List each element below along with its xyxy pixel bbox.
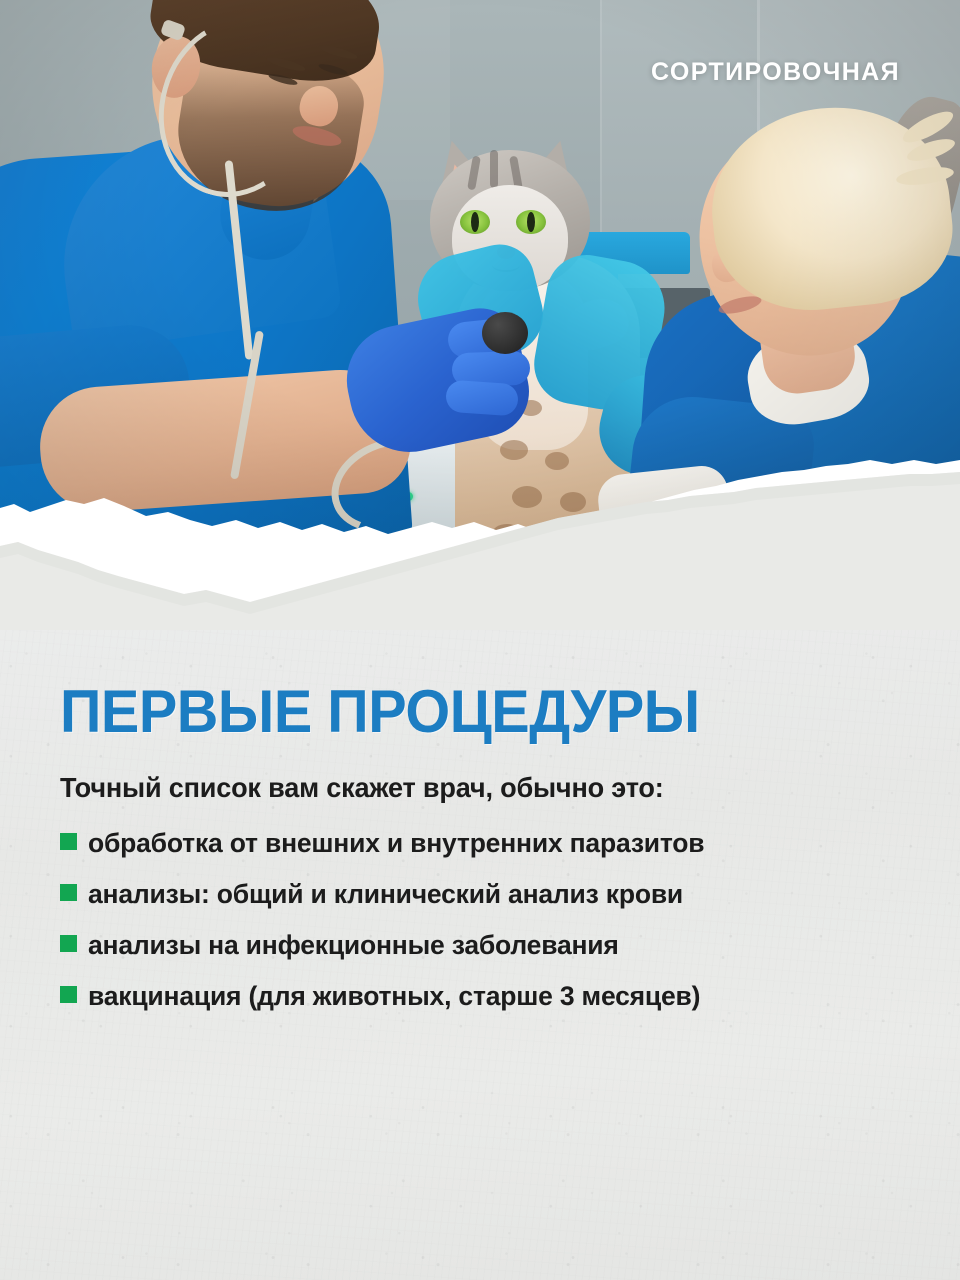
poster: СОРТИРОВОЧНАЯ ПЕРВЫЕ ПРОЦЕДУРЫ Точный сп… bbox=[0, 0, 960, 1280]
content-area: ПЕРВЫЕ ПРОЦЕДУРЫ Точный список вам скаже… bbox=[0, 682, 960, 1014]
procedures-list: обработка от внешних и внутренних парази… bbox=[60, 826, 900, 1014]
list-item: анализы на инфекционные заболевания bbox=[60, 928, 890, 963]
square-bullet-icon bbox=[60, 986, 77, 1003]
list-item-label: вакцинация (для животных, старше 3 месяц… bbox=[88, 981, 700, 1011]
channel-label: СОРТИРОВОЧНАЯ bbox=[651, 58, 900, 87]
torn-paper-edge bbox=[0, 430, 960, 630]
square-bullet-icon bbox=[60, 833, 77, 850]
list-item-label: обработка от внешних и внутренних парази… bbox=[88, 828, 704, 858]
list-item: вакцинация (для животных, старше 3 месяц… bbox=[60, 979, 890, 1014]
torn-edge-gray-layer bbox=[0, 430, 960, 630]
list-item: анализы: общий и клинический анализ кров… bbox=[60, 877, 890, 912]
paper-panel: ПЕРВЫЕ ПРОЦЕДУРЫ Точный список вам скаже… bbox=[0, 560, 960, 1280]
square-bullet-icon bbox=[60, 935, 77, 952]
list-item-label: анализы на инфекционные заболевания bbox=[88, 930, 619, 960]
square-bullet-icon bbox=[60, 884, 77, 901]
list-item-label: анализы: общий и клинический анализ кров… bbox=[88, 879, 683, 909]
list-item: обработка от внешних и внутренних парази… bbox=[60, 826, 890, 861]
page-title: ПЕРВЫЕ ПРОЦЕДУРЫ bbox=[60, 682, 866, 742]
page-subtitle: Точный список вам скажет врач, обычно эт… bbox=[60, 772, 887, 804]
